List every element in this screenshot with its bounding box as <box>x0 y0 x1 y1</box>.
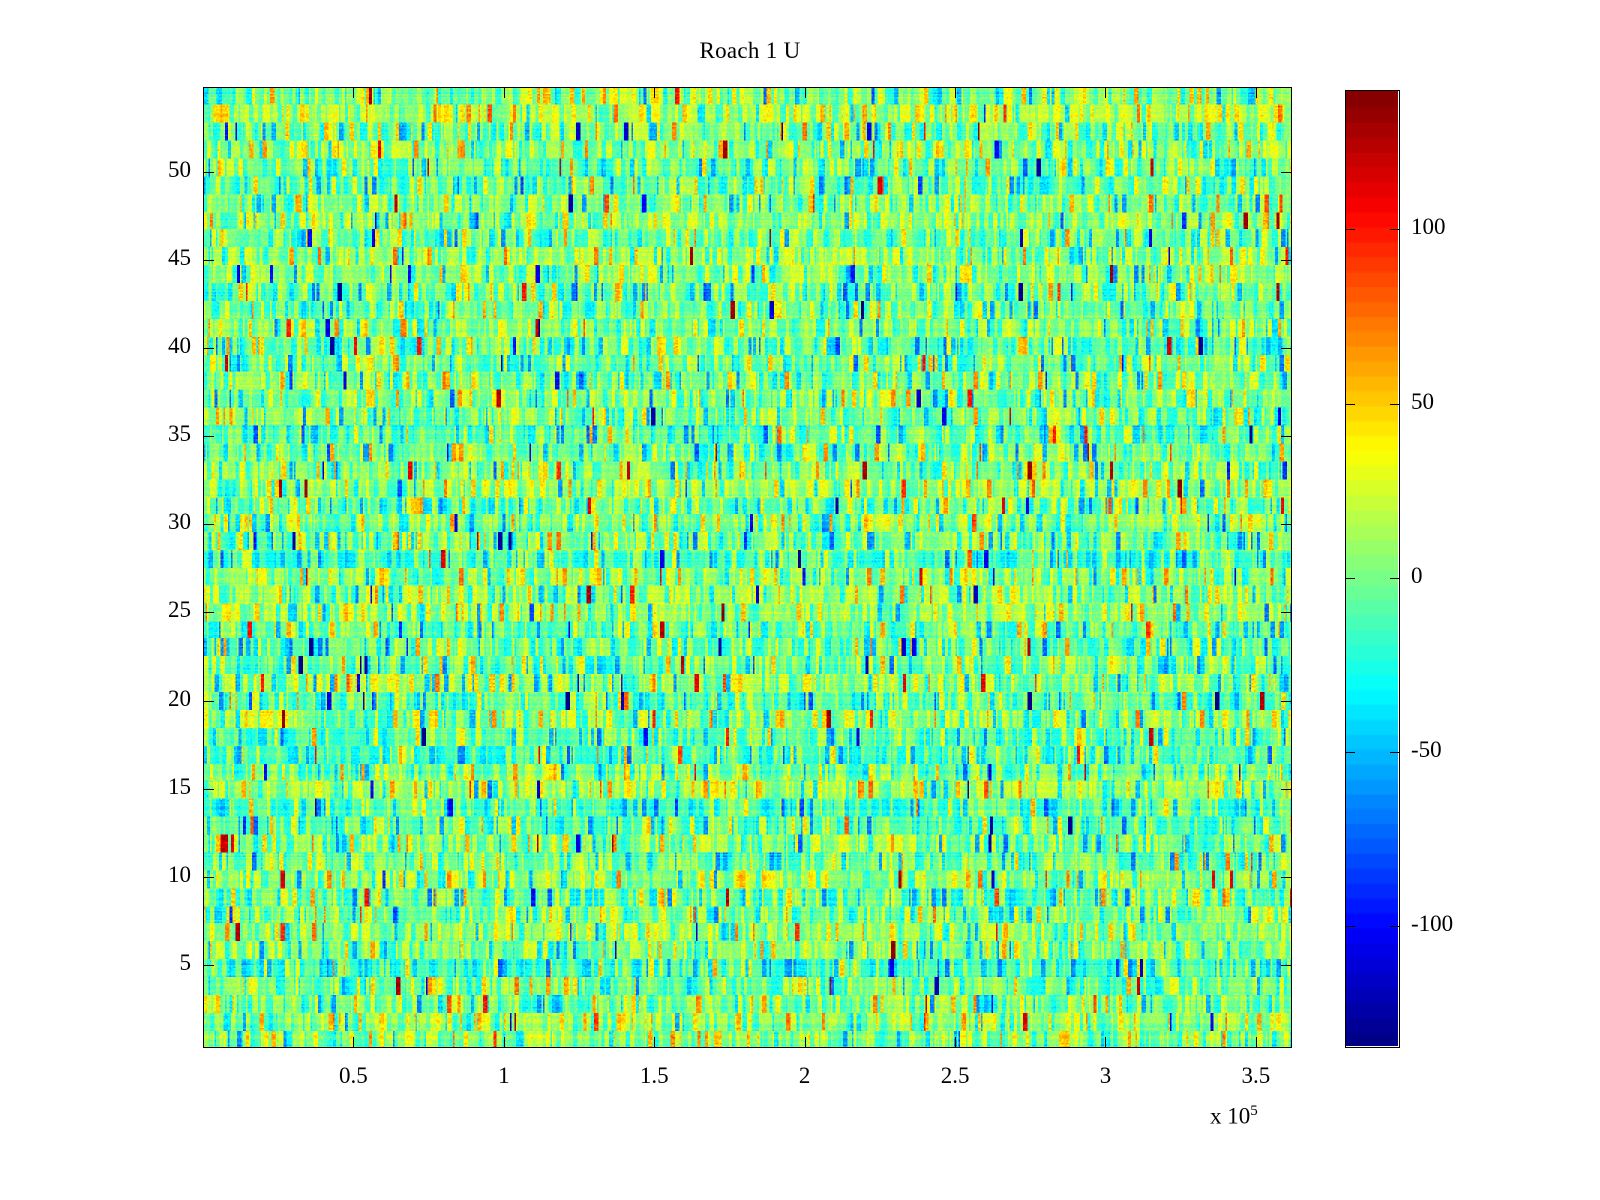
x-tick-mark <box>1256 1037 1257 1048</box>
x-tick-mark <box>353 1037 354 1048</box>
y-tick-label: 25 <box>103 597 191 623</box>
x-tick-label: 2.5 <box>895 1063 1015 1089</box>
y-tick-mark-right <box>1281 172 1292 173</box>
heatmap-image <box>204 88 1292 1048</box>
y-tick-mark <box>203 877 214 878</box>
y-tick-label: 45 <box>103 245 191 271</box>
x-tick-mark <box>1105 1037 1106 1048</box>
x-tick-mark-top <box>955 87 956 98</box>
y-tick-mark-right <box>1281 789 1292 790</box>
y-tick-mark-right <box>1281 436 1292 437</box>
x-tick-label: 0.5 <box>293 1063 413 1089</box>
y-tick-label: 30 <box>103 509 191 535</box>
y-tick-label: 20 <box>103 686 191 712</box>
colorbar-tick-right <box>1390 404 1400 405</box>
colorbar-tick-left <box>1345 229 1355 230</box>
y-tick-label: 35 <box>103 421 191 447</box>
y-tick-mark-right <box>1281 701 1292 702</box>
colorbar-tick-right <box>1390 926 1400 927</box>
x-tick-mark-top <box>504 87 505 98</box>
y-tick-label: 15 <box>103 774 191 800</box>
y-tick-mark-right <box>1281 965 1292 966</box>
y-tick-label: 10 <box>103 862 191 888</box>
colorbar-tick-right <box>1390 229 1400 230</box>
x-tick-mark <box>654 1037 655 1048</box>
y-tick-mark-right <box>1281 524 1292 525</box>
y-tick-mark-right <box>1281 260 1292 261</box>
x-tick-mark-top <box>805 87 806 98</box>
y-tick-mark <box>203 348 214 349</box>
x-tick-mark-top <box>654 87 655 98</box>
x-tick-mark-top <box>353 87 354 98</box>
colorbar-tick-label: -50 <box>1411 737 1442 763</box>
x-tick-mark <box>805 1037 806 1048</box>
x-tick-mark-top <box>1256 87 1257 98</box>
x-tick-label: 3.5 <box>1196 1063 1316 1089</box>
y-tick-mark-right <box>1281 612 1292 613</box>
colorbar-tick-right <box>1390 752 1400 753</box>
y-tick-mark <box>203 260 214 261</box>
y-tick-mark-right <box>1281 877 1292 878</box>
y-tick-label: 40 <box>103 333 191 359</box>
colorbar-tick-label: 50 <box>1411 389 1434 415</box>
y-tick-mark <box>203 789 214 790</box>
y-tick-mark <box>203 965 214 966</box>
y-tick-mark <box>203 701 214 702</box>
colorbar-tick-label: -100 <box>1411 911 1453 937</box>
heatmap-axes[interactable] <box>203 87 1292 1048</box>
y-tick-mark <box>203 436 214 437</box>
y-tick-label: 50 <box>103 157 191 183</box>
x-tick-mark-top <box>1105 87 1106 98</box>
x-tick-label: 3 <box>1045 1063 1165 1089</box>
matlab-figure: Roach 1 U 5101520253035404550 0.511.522.… <box>0 0 1600 1200</box>
colorbar-tick-left <box>1345 752 1355 753</box>
colorbar-tick-right <box>1390 578 1400 579</box>
x-tick-label: 1 <box>444 1063 564 1089</box>
colorbar-tick-left <box>1345 404 1355 405</box>
y-tick-mark-right <box>1281 348 1292 349</box>
colorbar-tick-left <box>1345 926 1355 927</box>
x-tick-label: 1.5 <box>594 1063 714 1089</box>
colorbar-gradient <box>1346 91 1398 1046</box>
colorbar[interactable] <box>1345 90 1400 1048</box>
colorbar-tick-label: 100 <box>1411 214 1446 240</box>
colorbar-tick-left <box>1345 578 1355 579</box>
y-tick-mark <box>203 612 214 613</box>
x-axis-exponent-label: x 105 <box>1210 1103 1258 1130</box>
page-title: Roach 1 U <box>0 38 1500 64</box>
y-tick-mark <box>203 172 214 173</box>
y-tick-label: 5 <box>103 950 191 976</box>
x-tick-mark <box>504 1037 505 1048</box>
colorbar-tick-label: 0 <box>1411 563 1423 589</box>
x-tick-mark <box>955 1037 956 1048</box>
x-tick-label: 2 <box>745 1063 865 1089</box>
y-tick-mark <box>203 524 214 525</box>
